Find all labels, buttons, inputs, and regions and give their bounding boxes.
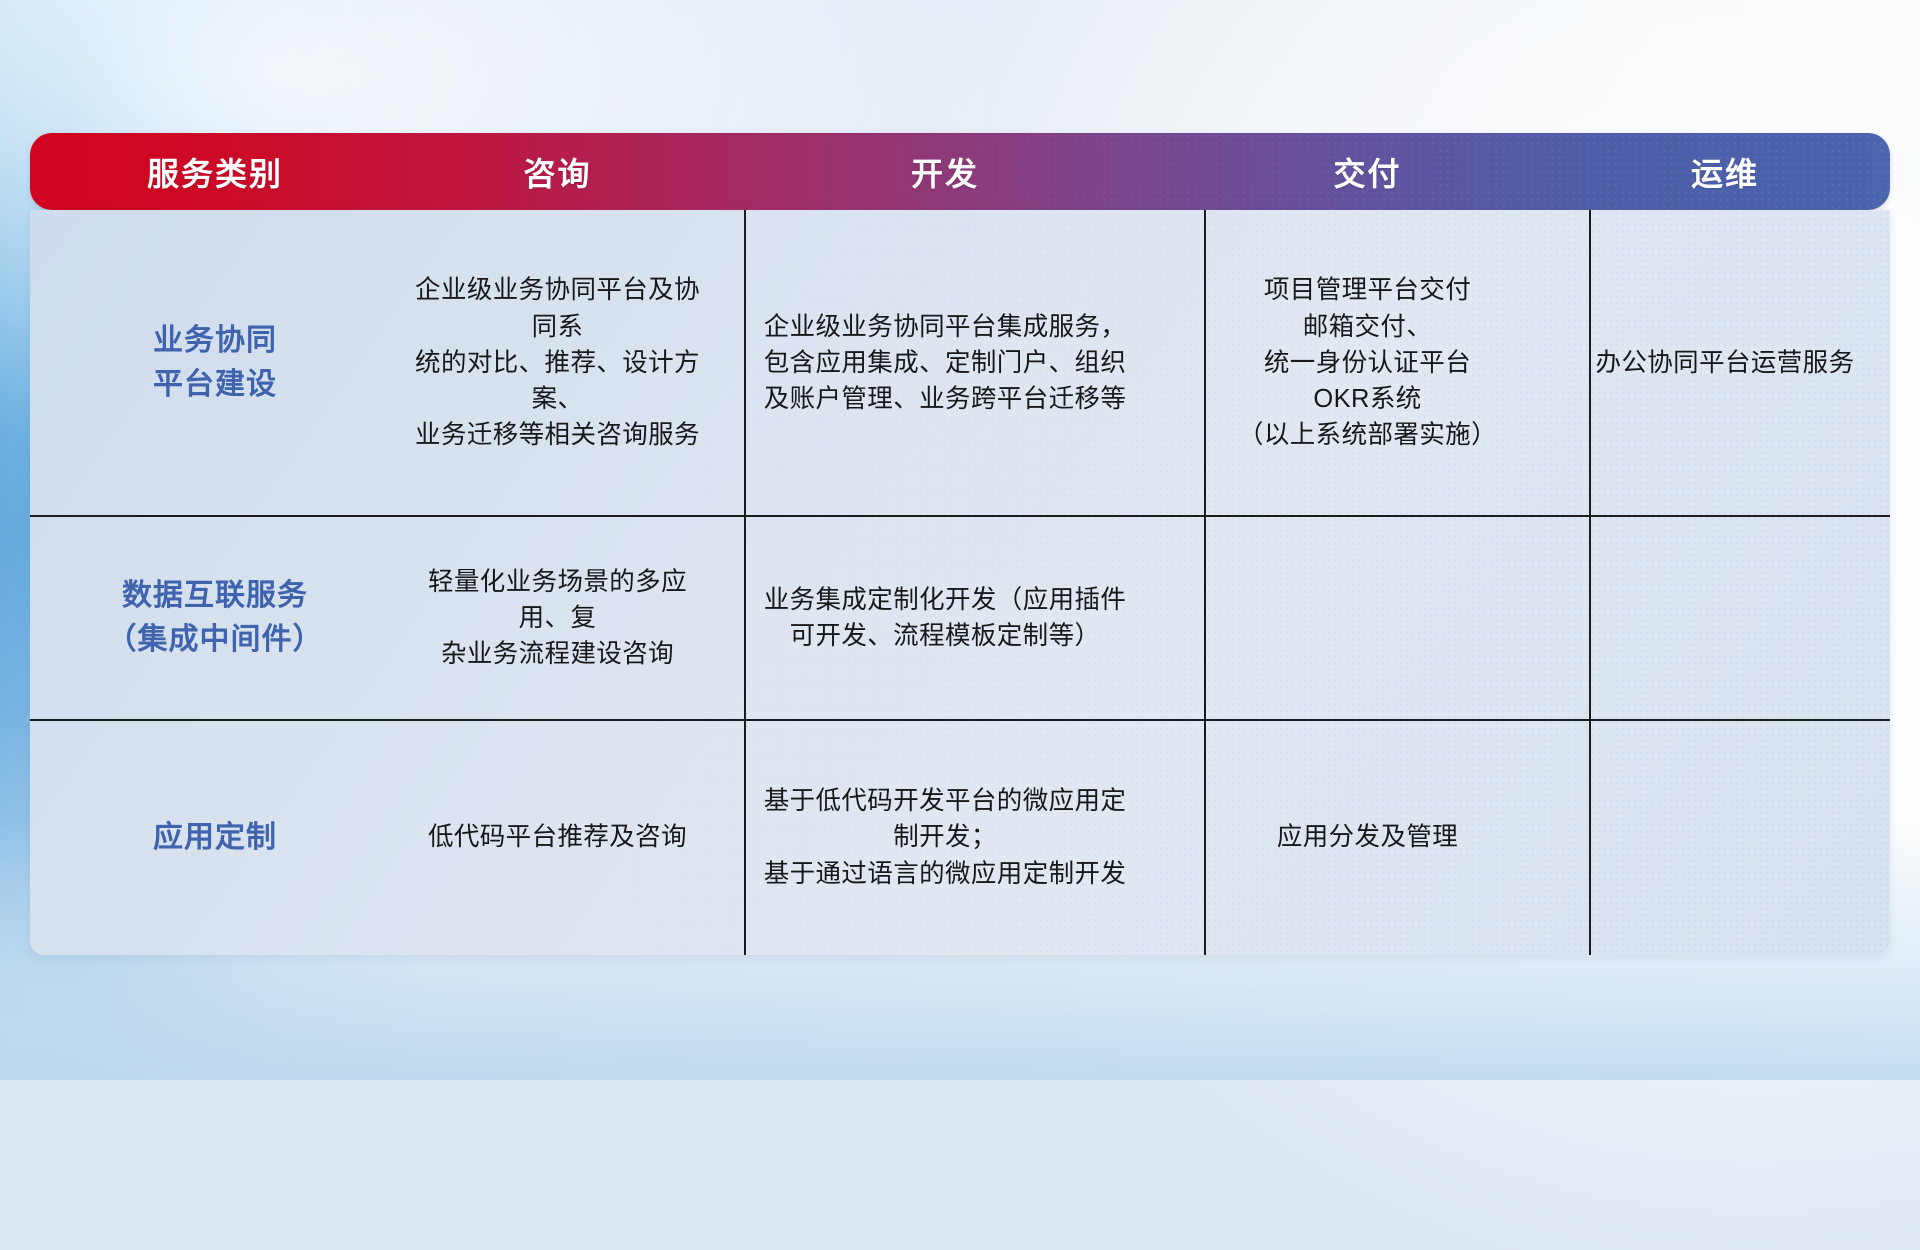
row-label-business-collaboration-platform: 业务协同 平台建设 — [30, 210, 400, 516]
column-header-operations: 运维 — [1560, 149, 1890, 195]
cell-development-row-1: 业务集成定制化开发（应用插件 可开发、流程模板定制等） — [715, 516, 1175, 720]
cell-development-row-2: 基于低代码开发平台的微应用定 制开发； 基于通过语言的微应用定制开发 — [715, 720, 1175, 955]
cell-consulting-row-2: 低代码平台推荐及咨询 — [400, 720, 715, 955]
column-header-delivery: 交付 — [1175, 149, 1560, 195]
cell-operations-row-2 — [1560, 720, 1890, 955]
cell-consulting-row-0: 企业级业务协同平台及协同系 统的对比、推荐、设计方案、 业务迁移等相关咨询服务 — [400, 210, 715, 516]
table-body: 业务协同 平台建设 企业级业务协同平台及协同系 统的对比、推荐、设计方案、 业务… — [30, 210, 1890, 955]
row-divider-2 — [30, 719, 1890, 721]
table-row: 业务协同 平台建设 企业级业务协同平台及协同系 统的对比、推荐、设计方案、 业务… — [30, 210, 1890, 516]
row-label-application-customization: 应用定制 — [30, 720, 400, 955]
table-header-band: 服务类别 咨询 开发 交付 运维 — [30, 133, 1890, 210]
cell-delivery-row-2: 应用分发及管理 — [1175, 720, 1560, 955]
column-divider-1 — [744, 210, 746, 955]
cell-operations-row-0: 办公协同平台运营服务 — [1560, 210, 1890, 516]
cell-delivery-row-0: 项目管理平台交付 邮箱交付、 统一身份认证平台 OKR系统 （以上系统部署实施） — [1175, 210, 1560, 516]
cell-delivery-row-1 — [1175, 516, 1560, 720]
table-header-row: 服务类别 咨询 开发 交付 运维 — [30, 133, 1890, 210]
column-divider-2 — [1204, 210, 1206, 955]
column-header-consulting: 咨询 — [400, 149, 715, 195]
row-label-data-interconnection-service: 数据互联服务 （集成中间件） — [30, 516, 400, 720]
column-header-service-category: 服务类别 — [30, 149, 400, 195]
cell-operations-row-1 — [1560, 516, 1890, 720]
column-divider-3 — [1589, 210, 1591, 955]
cell-consulting-row-1: 轻量化业务场景的多应用、复 杂业务流程建设咨询 — [400, 516, 715, 720]
row-divider-1 — [30, 515, 1890, 517]
table-row: 应用定制 低代码平台推荐及咨询 基于低代码开发平台的微应用定 制开发； 基于通过… — [30, 720, 1890, 955]
column-header-development: 开发 — [715, 149, 1175, 195]
service-matrix-table: 服务类别 咨询 开发 交付 运维 业务协同 平台建设 企业级业务协同平台及协同系… — [30, 133, 1890, 955]
cell-development-row-0: 企业级业务协同平台集成服务， 包含应用集成、定制门户、组织 及账户管理、业务跨平… — [715, 210, 1175, 516]
table-row: 数据互联服务 （集成中间件） 轻量化业务场景的多应用、复 杂业务流程建设咨询 业… — [30, 516, 1890, 720]
